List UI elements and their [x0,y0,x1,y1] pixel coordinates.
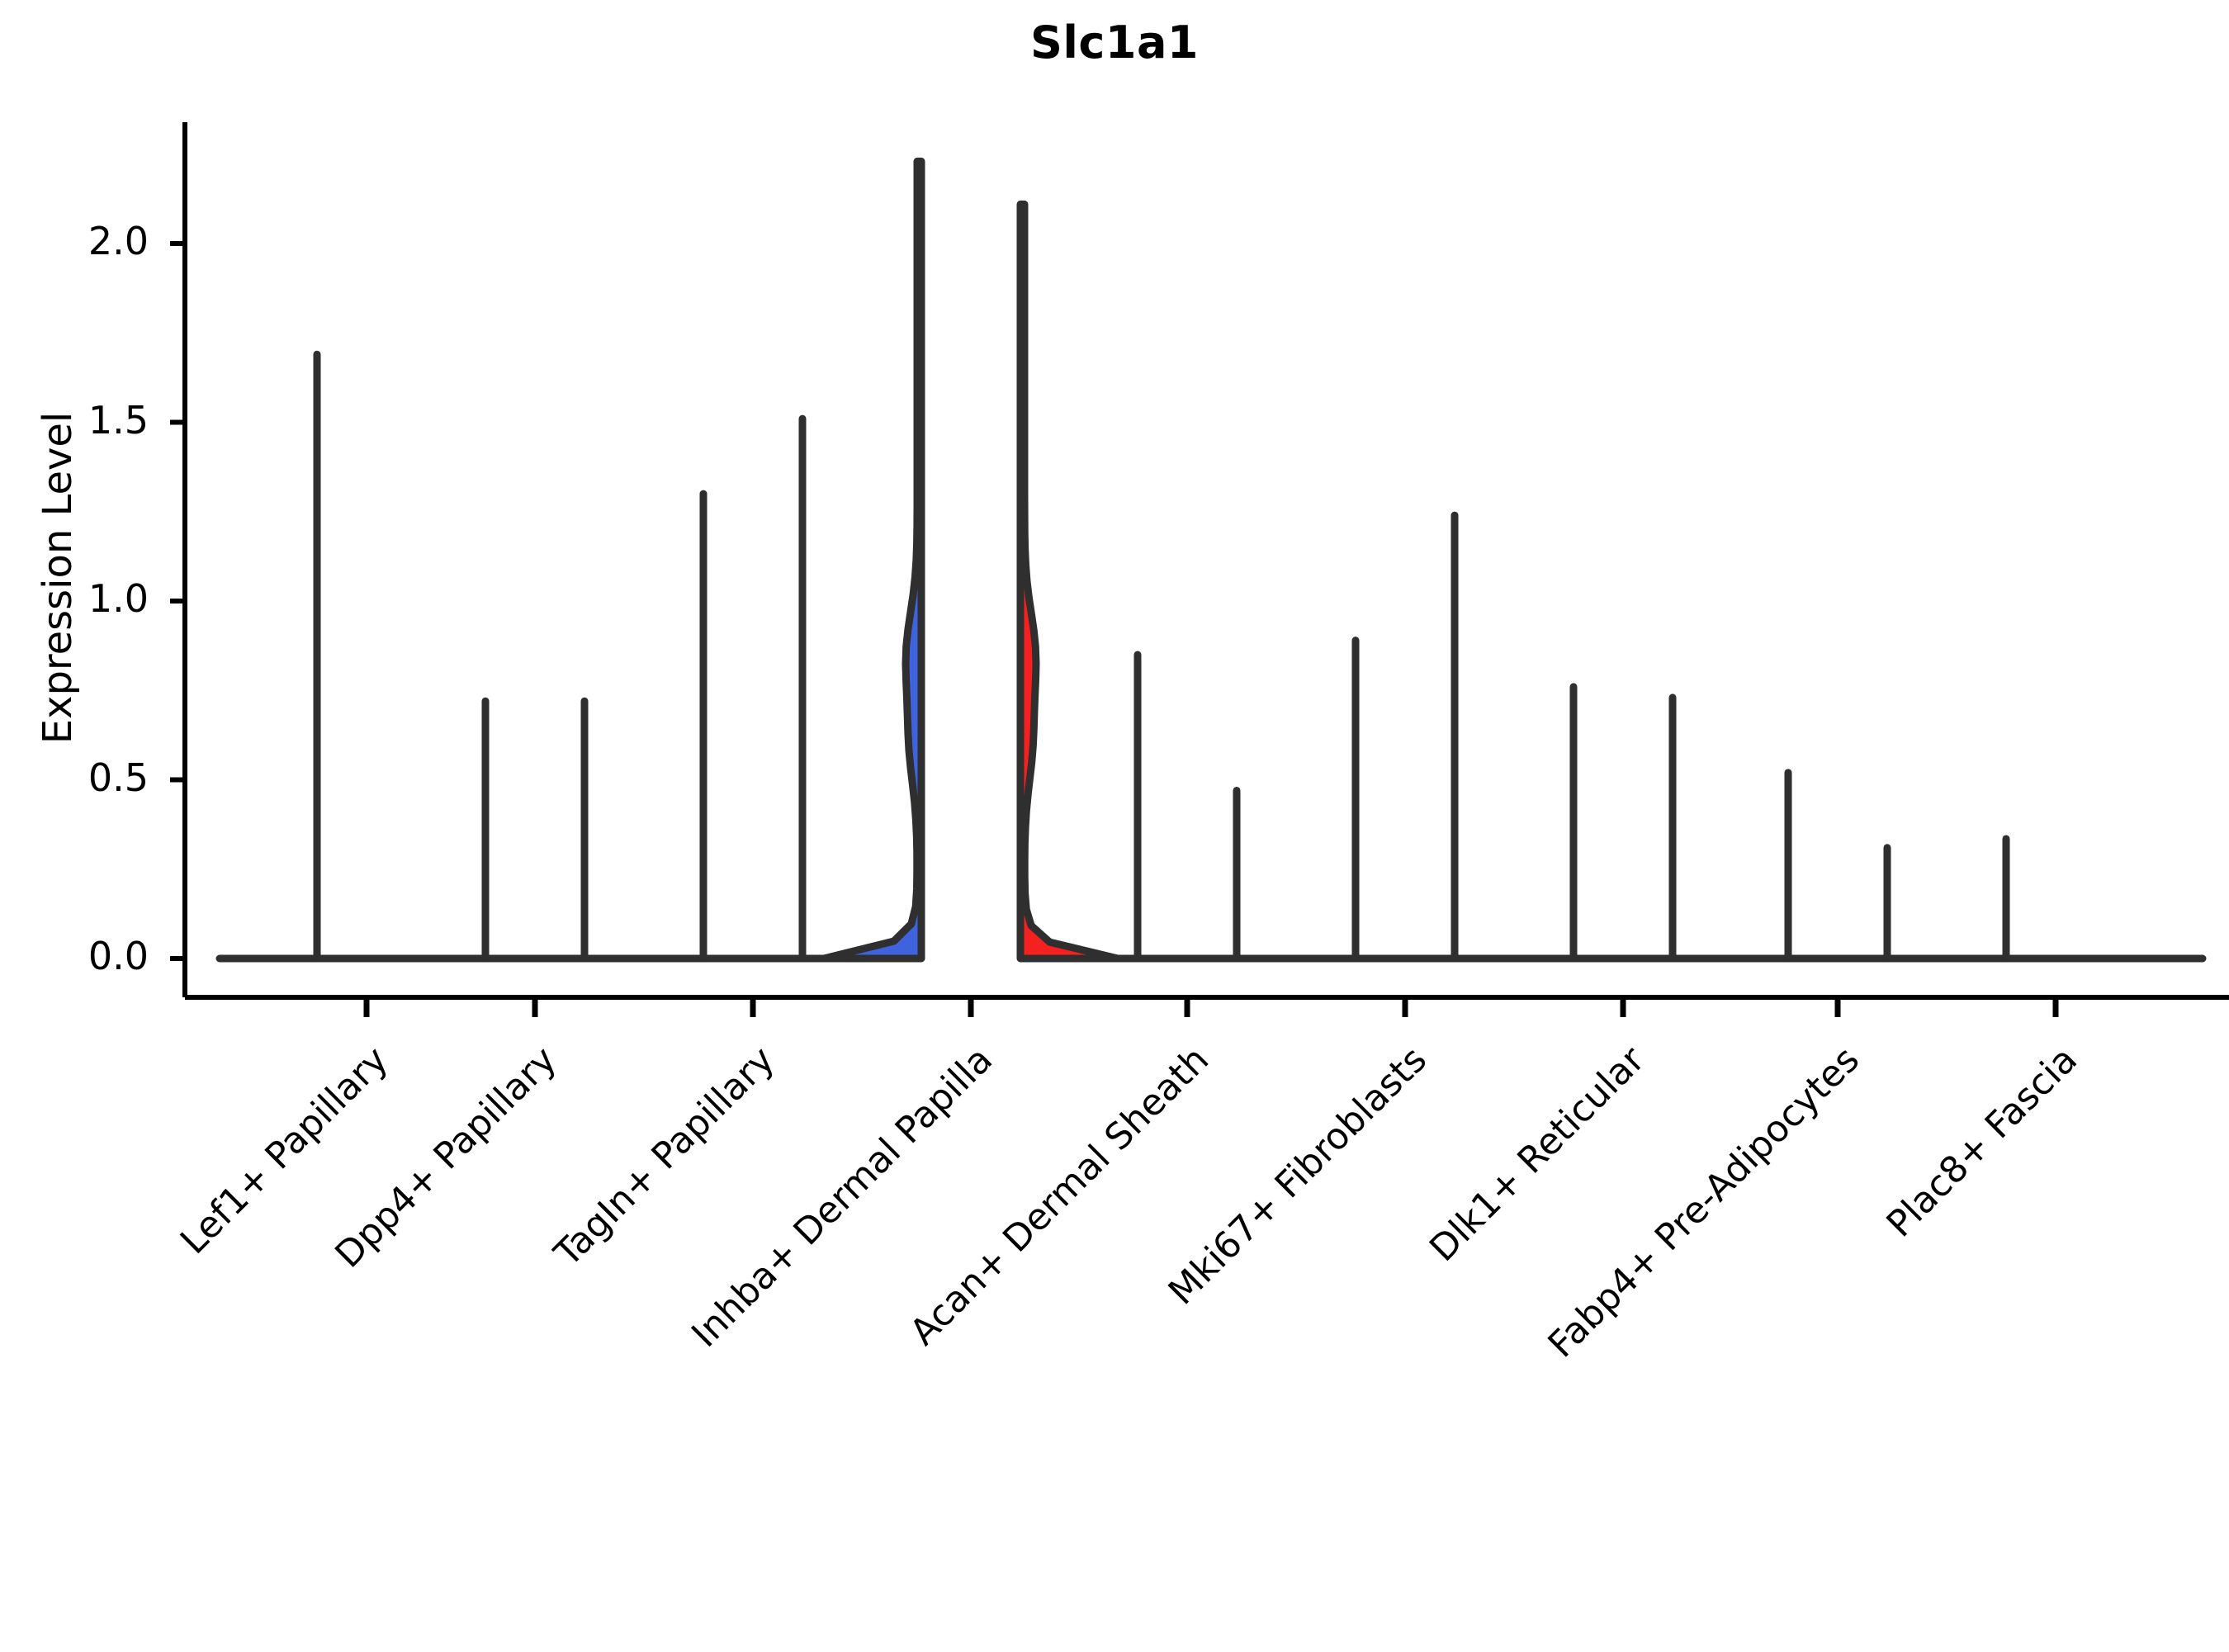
y-tick-label: 1.0 [8,576,149,621]
violin-half [487,701,682,959]
violin-half [705,419,900,959]
violin-half [1909,839,2104,959]
violin-half [1139,790,1334,959]
violin-plot-figure: Slc1a1 Expression Level 0.00.51.01.52.0 … [0,0,2229,1486]
violin-half [606,494,801,959]
axes [185,122,2229,997]
violin-half [824,161,921,959]
x-tick-marks [367,997,2056,1017]
violin-bodies [220,161,2203,959]
violin-shape-filled [1020,204,1118,959]
violin-half [388,701,583,959]
y-tick-label: 2.0 [8,219,149,263]
violin-half [1040,655,1235,959]
violin-half [1258,641,1453,959]
y-tick-label: 0.0 [8,934,149,978]
violin-half [1357,515,1552,959]
violin-half [1476,687,1671,959]
violin-half [1575,698,1770,959]
violin-half [1691,773,1886,959]
violin-half [220,354,414,959]
y-tick-label: 1.5 [8,398,149,443]
violin-half [1790,848,1985,959]
y-tick-label: 0.5 [8,755,149,800]
violin-half [1020,204,1118,959]
violin-shape-filled [824,161,921,959]
